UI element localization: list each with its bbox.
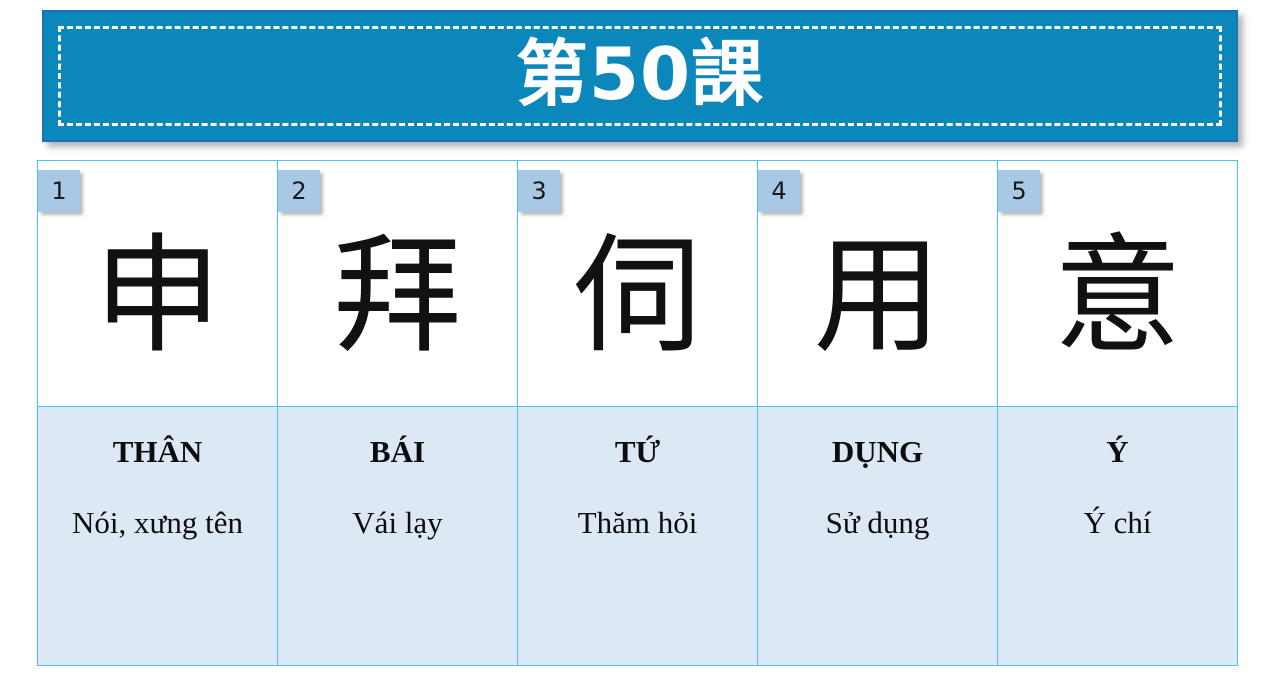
sino-reading-2: BÁI [370, 435, 425, 469]
meaning-cell-1: THÂN Nói, xưng tên [38, 407, 277, 665]
meaning-text-3: Thăm hỏi [572, 499, 704, 547]
character-cell-4: 4 用 [758, 161, 997, 407]
page-title: 第50課 [516, 38, 764, 114]
lesson-title-banner: 第50課 [42, 10, 1238, 142]
number-badge-2: 2 [278, 170, 320, 212]
character-cell-5: 5 意 [998, 161, 1237, 407]
meaning-cell-5: Ý Ý chí [998, 407, 1237, 665]
meaning-text-1: Nói, xưng tên [66, 499, 249, 547]
sino-reading-5: Ý [1106, 435, 1128, 469]
character-glyph-3: 伺 [573, 207, 701, 361]
meaning-text-2: Vái lạy [346, 499, 448, 547]
meaning-cell-3: TỨ Thăm hỏi [518, 407, 757, 665]
number-badge-3: 3 [518, 170, 560, 212]
meaning-text-5: Ý chí [1077, 499, 1157, 547]
character-glyph-4: 用 [813, 207, 941, 361]
character-glyph-1: 申 [93, 207, 221, 361]
meaning-cell-4: DỤNG Sử dụng [758, 407, 997, 665]
number-badge-5: 5 [998, 170, 1040, 212]
sino-reading-3: TỨ [615, 435, 660, 469]
vocabulary-column-4: 4 用 DỤNG Sử dụng [758, 161, 998, 665]
character-glyph-2: 拜 [333, 207, 461, 361]
number-badge-4: 4 [758, 170, 800, 212]
character-glyph-5: 意 [1053, 207, 1181, 361]
meaning-text-4: Sử dụng [820, 499, 936, 547]
sino-reading-1: THÂN [113, 435, 203, 469]
meaning-cell-2: BÁI Vái lạy [278, 407, 517, 665]
character-cell-1: 1 申 [38, 161, 277, 407]
lesson-slide: 第50課 1 申 THÂN Nói, xưng tên 2 拜 BÁI Vái … [0, 0, 1280, 680]
vocabulary-table: 1 申 THÂN Nói, xưng tên 2 拜 BÁI Vái lạy 3… [37, 160, 1238, 666]
vocabulary-column-2: 2 拜 BÁI Vái lạy [278, 161, 518, 665]
number-badge-1: 1 [38, 170, 80, 212]
character-cell-2: 2 拜 [278, 161, 517, 407]
title-dashed-frame: 第50課 [58, 26, 1222, 126]
vocabulary-column-5: 5 意 Ý Ý chí [998, 161, 1237, 665]
character-cell-3: 3 伺 [518, 161, 757, 407]
sino-reading-4: DỤNG [832, 435, 923, 469]
vocabulary-column-1: 1 申 THÂN Nói, xưng tên [38, 161, 278, 665]
vocabulary-column-3: 3 伺 TỨ Thăm hỏi [518, 161, 758, 665]
